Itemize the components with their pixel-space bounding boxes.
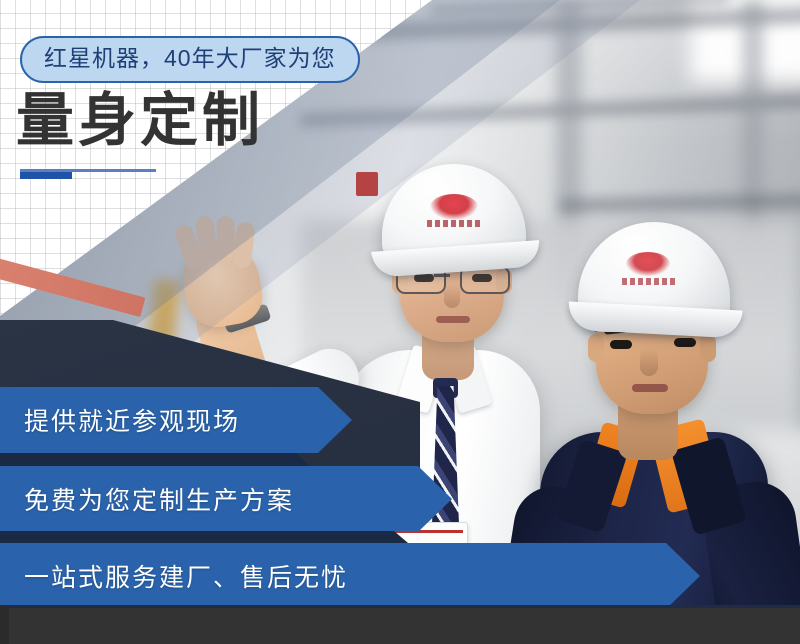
promo-banner: 红星机器，40年大厂家为您 量身定制 提供就近参观现场 免费为您定制生产方案 一… [0,0,800,644]
title-underline-thick [20,172,72,179]
footer-bar [0,608,800,644]
eye [610,340,632,349]
mouth [632,384,668,392]
ear [588,334,604,362]
eye [674,338,696,347]
banner-divider-2 [0,531,408,544]
feature-banner-3[interactable]: 一站式服务建厂、售后无忧 [0,543,700,609]
feature-label: 提供就近参观现场 [24,402,240,438]
footer-left-gutter [0,605,9,644]
mouth [436,316,470,323]
banner-divider-1 [0,453,310,466]
feature-banner-2[interactable]: 免费为您定制生产方案 [0,466,452,532]
helmet-logo-icon [430,194,478,220]
tagline-badge: 红星机器，40年大厂家为您 [20,36,360,83]
support-column [742,0,764,250]
helmet-logo-text [427,220,483,227]
eyeglasses-bridge [434,274,450,277]
nose [640,348,658,376]
feature-label: 免费为您定制生产方案 [24,481,294,517]
feature-label: 一站式服务建厂、售后无忧 [24,558,348,594]
helmet-logo-text [622,278,676,285]
helmet-logo-icon [626,252,670,276]
page-title: 量身定制 [16,92,264,150]
ear [700,334,716,362]
feature-banner-1[interactable]: 提供就近参观现场 [0,387,352,453]
nose [444,284,460,308]
